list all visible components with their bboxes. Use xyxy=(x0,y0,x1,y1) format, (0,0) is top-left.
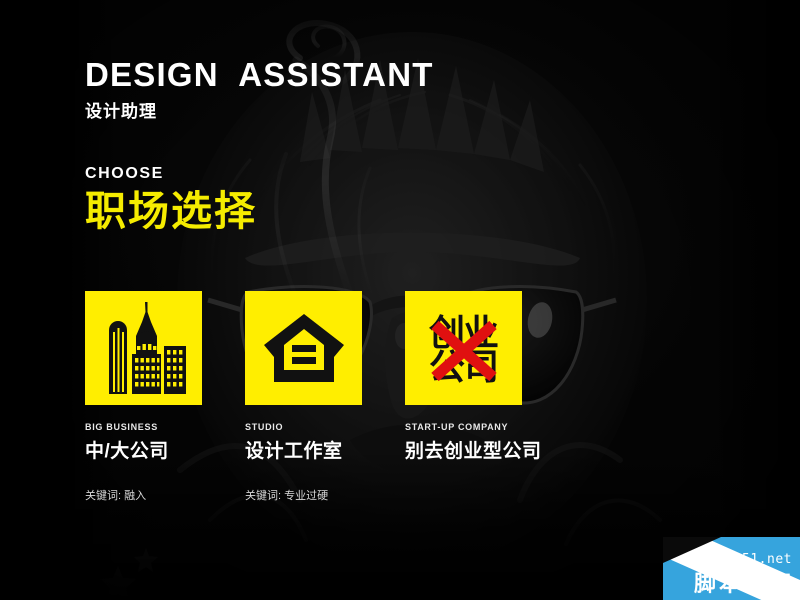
option-tile-studio[interactable] xyxy=(245,291,362,405)
option-label-en: STUDIO xyxy=(245,422,362,432)
section-label-cn: 职场选择 xyxy=(85,189,257,234)
option-card-startup[interactable]: 创 业 公 司 START-UP COMPANY 别去创业型公司 xyxy=(405,291,522,487)
option-card-big-business[interactable]: BIG BUSINESS 中/大公司 关键词: 融入 xyxy=(85,291,202,503)
watermark-url: jb51.net xyxy=(725,552,792,567)
option-card-text: START-UP COMPANY 别去创业型公司 xyxy=(405,422,522,463)
page-title-cn: 设计助理 xyxy=(85,97,434,122)
crossed-out-startup-icon: 创 业 公 司 xyxy=(421,305,507,391)
house-icon xyxy=(262,312,346,384)
star-decoration-icon xyxy=(100,548,158,600)
slide-header: DESIGN ASSISTANT 设计助理 xyxy=(85,58,434,122)
option-label-cn: 中/大公司 xyxy=(85,436,202,463)
watermark-name: 脚本之家 xyxy=(694,566,794,598)
option-label-cn: 别去创业型公司 xyxy=(405,436,522,463)
section-heading: CHOOSE 职场选择 xyxy=(85,165,257,234)
background-right-shade xyxy=(710,0,800,600)
presentation-slide: DESIGN ASSISTANT 设计助理 CHOOSE 职场选择 xyxy=(0,0,800,600)
option-tile-startup[interactable]: 创 业 公 司 xyxy=(405,291,522,405)
option-label-cn: 设计工作室 xyxy=(245,436,362,463)
page-title-en: DESIGN ASSISTANT xyxy=(85,58,434,93)
option-card-studio[interactable]: STUDIO 设计工作室 关键词: 专业过硬 xyxy=(245,291,362,503)
watermark: jb51.net 脚本之家 xyxy=(663,537,800,600)
city-buildings-icon xyxy=(101,302,187,394)
option-keyword: 关键词: 融入 xyxy=(85,487,202,503)
option-label-en: BIG BUSINESS xyxy=(85,422,202,432)
option-tile-big-business[interactable] xyxy=(85,291,202,405)
option-card-text: STUDIO 设计工作室 关键词: 专业过硬 xyxy=(245,422,362,503)
option-label-en: START-UP COMPANY xyxy=(405,422,522,432)
watermark-corner xyxy=(663,537,721,563)
option-keyword: 关键词: 专业过硬 xyxy=(245,487,362,503)
section-label-en: CHOOSE xyxy=(85,165,257,183)
option-card-text: BIG BUSINESS 中/大公司 关键词: 融入 xyxy=(85,422,202,503)
